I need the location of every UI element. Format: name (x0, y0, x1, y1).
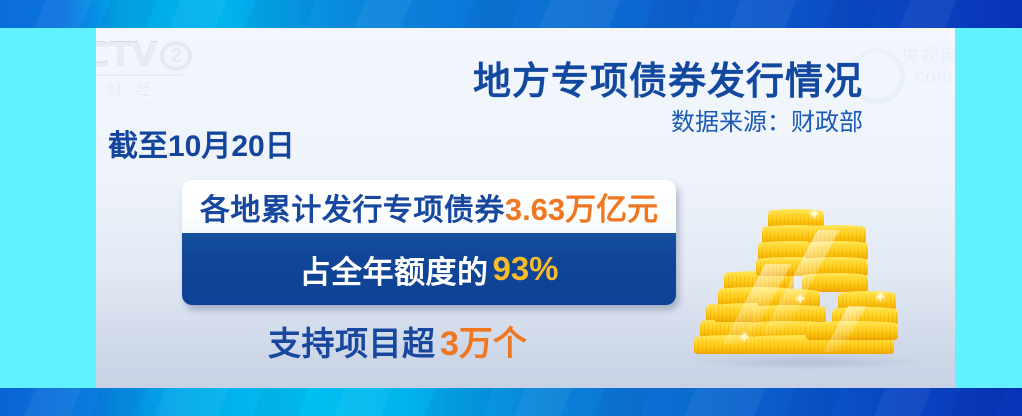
site-watermark: 央视网 .com (901, 42, 955, 88)
logo-subtitle: 财经 (96, 79, 211, 100)
bottom-bar-facets (0, 388, 1022, 416)
bottom-decorative-bar (0, 388, 1022, 416)
logo-channel-number: 2 (160, 41, 192, 71)
gold-coin-stack-illustration: ✦ ✦ ✦ ✦ (686, 206, 931, 376)
content-stage: CCTV 2 财经 央视网 .com 地方专项债券发行情况 数据来源：财政部 截… (96, 28, 955, 388)
sparkle-icon: ✦ (738, 330, 751, 345)
projects-supported-value: 3万个 (440, 325, 527, 363)
broadcast-graphic: CCTV 2 财经 央视网 .com 地方专项债券发行情况 数据来源：财政部 截… (0, 0, 1022, 416)
logo-wordmark: CCTV (96, 36, 156, 76)
watermark-line1: 央视网 (901, 42, 955, 68)
panel-row-total-issued: 各地累计发行专项债券 3.63万亿元 (182, 180, 676, 233)
page-title: 地方专项债券发行情况 (473, 50, 863, 105)
coin (742, 338, 894, 354)
quota-share-label: 占全年额度的 (299, 247, 488, 292)
as-of-date: 截至10月20日 (108, 121, 295, 165)
right-cyan-rail (955, 28, 1022, 388)
projects-supported-line: 支持项目超 3万个 (268, 316, 527, 365)
projects-supported-label: 支持项目超 (268, 325, 436, 362)
total-issued-label: 各地累计发行专项债券 (200, 185, 505, 229)
quota-share-value: 93% (492, 250, 558, 288)
sparkle-icon: ✦ (794, 292, 807, 307)
cctv2-logo: CCTV 2 财经 (96, 36, 211, 102)
coin-stack-shadow (694, 354, 922, 370)
panel-row-quota-share: 占全年额度的 93% (182, 233, 676, 305)
total-issued-value: 3.63万亿元 (505, 184, 658, 229)
top-decorative-bar (0, 0, 1022, 28)
key-figures-panel: 各地累计发行专项债券 3.63万亿元 占全年额度的 93% (182, 180, 676, 305)
data-source-label: 数据来源：财政部 (671, 102, 863, 137)
coin (806, 324, 898, 340)
left-cyan-rail (0, 28, 96, 388)
top-bar-facets (0, 0, 1022, 28)
watermark-line2: .com (901, 66, 955, 88)
sparkle-icon: ✦ (808, 207, 821, 222)
sparkle-icon: ✦ (874, 290, 887, 305)
